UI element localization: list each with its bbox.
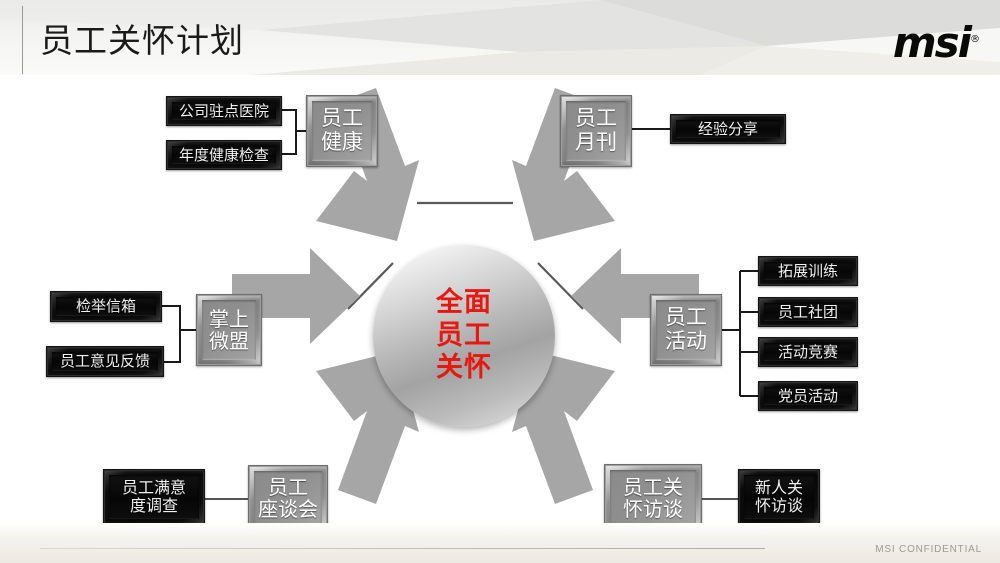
node-label: 活动竞赛 xyxy=(778,344,838,361)
diagram-canvas: 全面 员工 关怀 公司驻点医院 年度健康检查 员工 健康 员工 月刊 经验分享 xyxy=(0,75,1000,523)
node-label: 掌上 微盟 xyxy=(209,308,249,353)
node-label: 拓展训练 xyxy=(778,263,838,280)
page-title: 员工关怀计划 xyxy=(40,14,244,62)
node-activity-contest[interactable]: 活动竞赛 xyxy=(758,337,858,367)
node-label: 员工 活动 xyxy=(665,306,707,353)
slide-header: 员工关怀计划 msi® xyxy=(0,0,1000,75)
registered-trademark-icon: ® xyxy=(970,34,980,45)
node-experience-share[interactable]: 经验分享 xyxy=(670,114,786,144)
node-employee-club[interactable]: 员工社团 xyxy=(758,297,858,327)
node-employee-health[interactable]: 员工 健康 xyxy=(306,95,378,167)
footer-divider-rule xyxy=(40,548,765,549)
node-outward-training[interactable]: 拓展训练 xyxy=(758,256,858,286)
node-label: 新人关 怀访谈 xyxy=(755,479,803,515)
title-divider-rule xyxy=(22,6,23,74)
node-opinion-feedback[interactable]: 员工意见反馈 xyxy=(46,346,164,377)
msi-logo-text: msi xyxy=(893,18,970,67)
node-employee-monthly[interactable]: 员工 月刊 xyxy=(560,95,632,167)
node-label: 检举信箱 xyxy=(76,298,136,315)
node-care-interview[interactable]: 员工关 怀访谈 xyxy=(604,464,702,532)
node-satisfaction-survey[interactable]: 员工满意 度调查 xyxy=(103,469,205,525)
node-label: 员工 月刊 xyxy=(575,107,617,154)
confidential-label: MSI CONFIDENTIAL xyxy=(875,544,982,555)
node-label: 年度健康检查 xyxy=(179,147,269,164)
node-label: 党员活动 xyxy=(778,388,838,405)
node-newcomer-interview[interactable]: 新人关 怀访谈 xyxy=(738,469,820,525)
node-label: 员工社团 xyxy=(778,304,838,321)
slide-root: 员工关怀计划 msi® xyxy=(0,0,1000,563)
node-label: 经验分享 xyxy=(698,121,758,138)
node-party-activity[interactable]: 党员活动 xyxy=(758,381,858,411)
center-circle-label: 全面 员工 关怀 xyxy=(436,287,492,386)
node-report-mailbox[interactable]: 检举信箱 xyxy=(50,291,162,322)
center-circle: 全面 员工 关怀 xyxy=(373,245,555,427)
node-palm-weimeng[interactable]: 掌上 微盟 xyxy=(196,294,262,366)
node-employee-forum[interactable]: 员工 座谈会 xyxy=(248,465,328,531)
node-label: 员工意见反馈 xyxy=(60,353,150,370)
node-label: 员工 座谈会 xyxy=(258,476,318,521)
node-employee-activity[interactable]: 员工 活动 xyxy=(650,294,722,366)
node-annual-checkup[interactable]: 年度健康检查 xyxy=(166,140,282,170)
node-label: 员工关 怀访谈 xyxy=(623,476,683,521)
msi-logo: msi® xyxy=(893,22,980,64)
node-label: 公司驻点医院 xyxy=(179,103,269,120)
node-company-clinic[interactable]: 公司驻点医院 xyxy=(166,96,282,126)
slide-footer: MSI CONFIDENTIAL xyxy=(0,523,1000,563)
node-label: 员工满意 度调查 xyxy=(122,479,186,515)
node-label: 员工 健康 xyxy=(321,107,363,154)
